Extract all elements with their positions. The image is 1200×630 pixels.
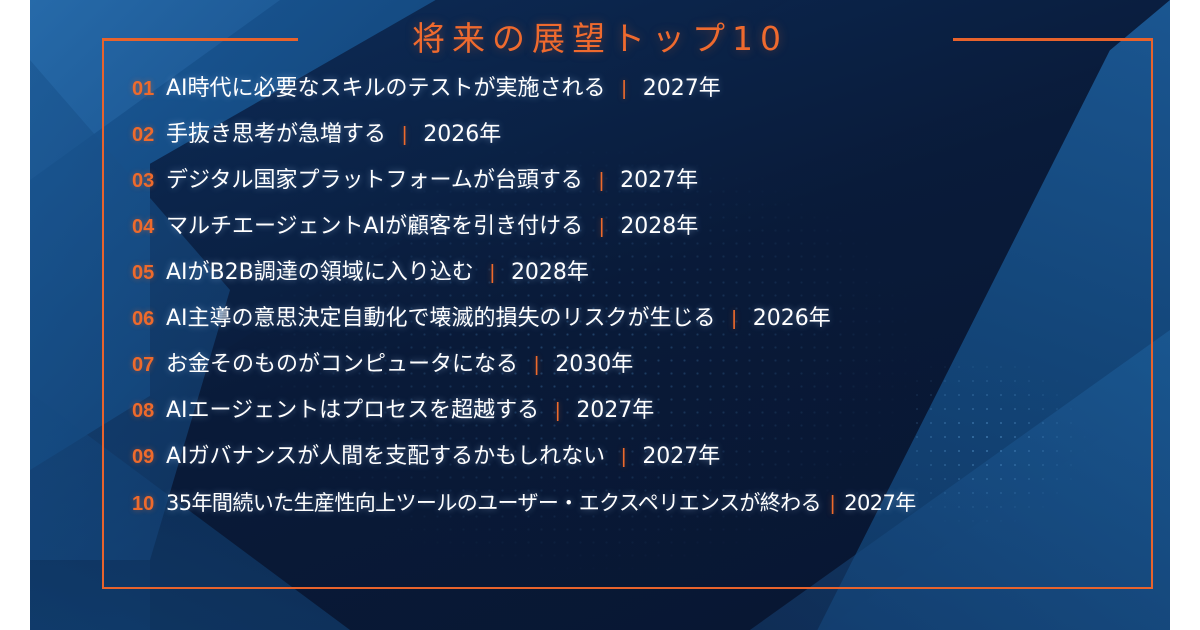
separator-pipe: | (621, 434, 626, 480)
prediction-text: マルチエージェントAIが顧客を引き付ける (166, 204, 583, 250)
list-item: 07 お金そのものがコンピュータになる | 2030年 (132, 342, 1139, 388)
separator-pipe: | (622, 66, 627, 112)
prediction-year: 2028年 (620, 204, 698, 250)
prediction-text: AIガバナンスが人間を支配するかもしれない (166, 434, 605, 480)
poster-artboard: 将来の展望トップ10 01 AI時代に必要なスキルのテストが実施される | 20… (30, 0, 1170, 630)
list-item: 02 手抜き思考が急増する | 2026年 (132, 112, 1139, 158)
separator-pipe: | (555, 388, 560, 434)
prediction-year: 2027年 (643, 66, 721, 112)
prediction-text: AIがB2B調達の領域に入り込む (166, 250, 474, 296)
separator-pipe: | (490, 250, 495, 296)
frame-border-bottom (102, 587, 1153, 589)
separator-pipe: | (830, 481, 835, 527)
prediction-text: AI主導の意思決定自動化で壊滅的損失のリスクが生じる (166, 296, 716, 342)
separator-pipe: | (599, 204, 604, 250)
prediction-year: 2027年 (620, 158, 698, 204)
separator-pipe: | (402, 112, 407, 158)
rank-number: 06 (132, 296, 166, 342)
rank-number: 01 (132, 66, 166, 112)
separator-pipe: | (732, 296, 737, 342)
rank-number: 04 (132, 204, 166, 250)
rank-number: 02 (132, 112, 166, 158)
prediction-text: お金そのものがコンピュータになる (166, 342, 518, 388)
prediction-year: 2030年 (555, 342, 633, 388)
prediction-year: 2026年 (753, 296, 831, 342)
list-item: 06 AI主導の意思決定自動化で壊滅的損失のリスクが生じる | 2026年 (132, 296, 1139, 342)
list-item: 10 35年間続いた生産性向上ツールのユーザー・エクスペリエンスが終わる | 2… (132, 480, 1139, 526)
list-item: 01 AI時代に必要なスキルのテストが実施される | 2027年 (132, 66, 1139, 112)
list-item: 05 AIがB2B調達の領域に入り込む | 2028年 (132, 250, 1139, 296)
prediction-year: 2028年 (511, 250, 589, 296)
prediction-text: 35年間続いた生産性向上ツールのユーザー・エクスペリエンスが終わる (166, 480, 821, 526)
prediction-year: 2027年 (642, 434, 720, 480)
prediction-year: 2026年 (423, 112, 501, 158)
rank-number: 07 (132, 342, 166, 388)
prediction-text: AIエージェントはプロセスを超越する (166, 388, 539, 434)
rank-number: 10 (132, 481, 166, 527)
separator-pipe: | (534, 342, 539, 388)
rank-number: 03 (132, 158, 166, 204)
rank-number: 09 (132, 434, 166, 480)
rank-number: 08 (132, 388, 166, 434)
prediction-text: 手抜き思考が急増する (166, 112, 386, 158)
prediction-year: 2027年 (576, 388, 654, 434)
rank-number: 05 (132, 250, 166, 296)
prediction-year: 2027年 (844, 480, 915, 526)
ranking-list: 01 AI時代に必要なスキルのテストが実施される | 2027年 02 手抜き思… (102, 66, 1153, 576)
list-item: 08 AIエージェントはプロセスを超越する | 2027年 (132, 388, 1139, 434)
separator-pipe: | (599, 158, 604, 204)
list-item: 04 マルチエージェントAIが顧客を引き付ける | 2028年 (132, 204, 1139, 250)
prediction-text: AI時代に必要なスキルのテストが実施される (166, 66, 606, 112)
list-item: 09 AIガバナンスが人間を支配するかもしれない | 2027年 (132, 434, 1139, 480)
page-title: 将来の展望トップ10 (30, 12, 1170, 60)
prediction-text: デジタル国家プラットフォームが台頭する (166, 158, 583, 204)
poster-canvas: 将来の展望トップ10 01 AI時代に必要なスキルのテストが実施される | 20… (0, 0, 1200, 630)
list-item: 03 デジタル国家プラットフォームが台頭する | 2027年 (132, 158, 1139, 204)
